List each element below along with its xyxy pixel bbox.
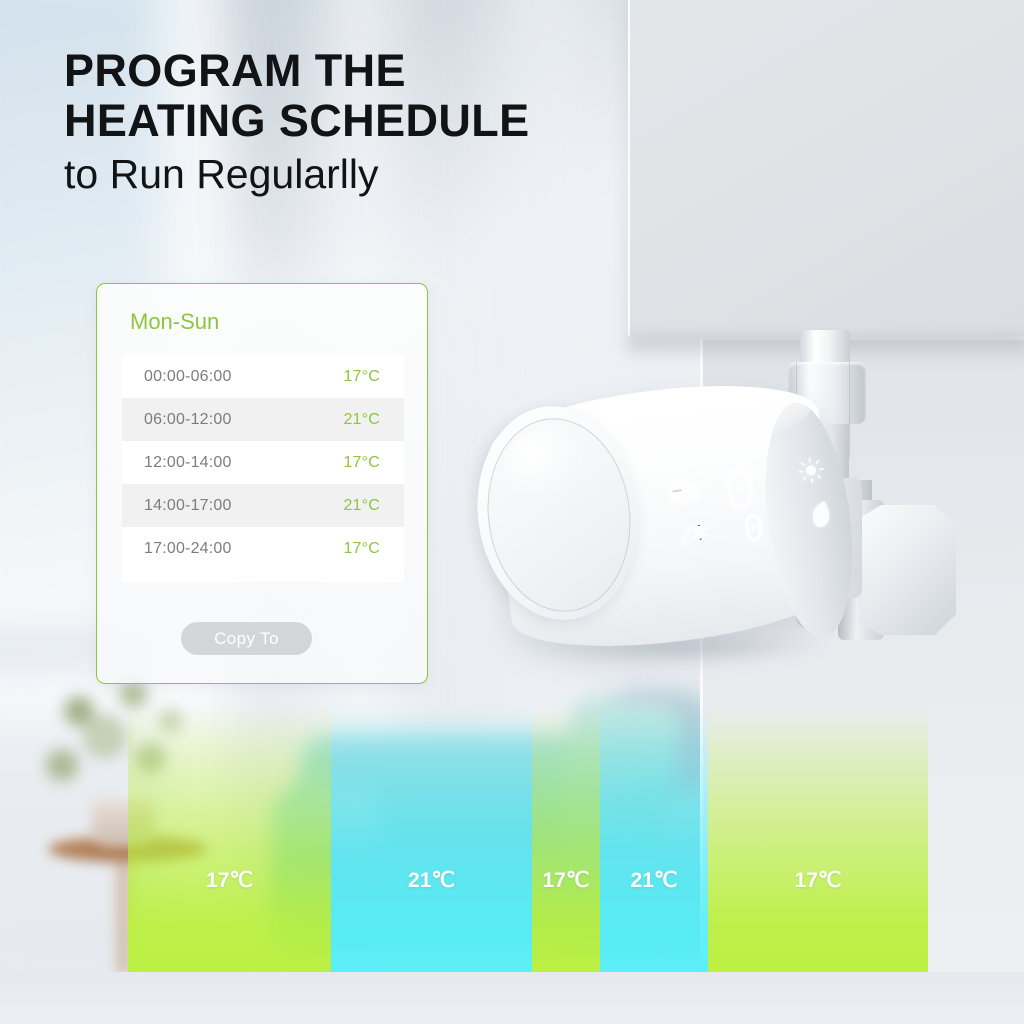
timeline-band-label-0: 17℃: [128, 868, 331, 893]
row-time: 12:00-14:00: [144, 454, 232, 472]
table-row[interactable]: 12:00-14:00 17°C: [122, 441, 404, 484]
timeline-band-3: [600, 705, 708, 972]
timeline-band-label-3: 21℃: [600, 868, 708, 893]
row-time: 00:00-06:00: [144, 368, 232, 386]
row-time: 17:00-24:00: [144, 540, 232, 558]
table-row[interactable]: 17:00-24:00 17°C: [122, 527, 404, 570]
timeline-axis-strip: [0, 972, 1024, 1024]
copy-to-button[interactable]: Copy To: [180, 621, 313, 656]
row-temperature: 17°C: [343, 540, 380, 558]
schedule-card: Mon-Sun 00:00-06:00 17°C 06:00-12:00 21°…: [96, 283, 428, 684]
headline-line-1: PROGRAM THE: [64, 46, 704, 96]
timeline-band-label-1: 21℃: [331, 868, 532, 893]
timeline-band-0: [128, 705, 331, 972]
timeline-band-4: [708, 705, 928, 972]
headline: PROGRAM THE HEATING SCHEDULE to Run Regu…: [64, 46, 704, 202]
headline-line-3: to Run Regularlly: [64, 147, 704, 202]
row-time: 06:00-12:00: [144, 411, 232, 429]
product-marketing-image: 17℃ 21℃ 17℃ 21℃ 17℃ 00:00 06:00 12:00 14…: [0, 0, 1024, 1024]
row-temperature: 17°C: [343, 368, 380, 386]
row-temperature: 21°C: [343, 497, 380, 515]
row-temperature: 21°C: [343, 411, 380, 429]
table-row[interactable]: 14:00-17:00 21°C: [122, 484, 404, 527]
timeline-band-label-2: 17℃: [532, 868, 600, 893]
timeline-band-label-4: 17℃: [708, 868, 928, 893]
headline-line-2: HEATING SCHEDULE: [64, 96, 704, 146]
table-row[interactable]: 06:00-12:00 21°C: [122, 398, 404, 441]
table-row[interactable]: 00:00-06:00 17°C: [122, 355, 404, 398]
schedule-row-list: 00:00-06:00 17°C 06:00-12:00 21°C 12:00-…: [122, 355, 404, 582]
timeline-band-2: [532, 705, 600, 972]
row-temperature: 17°C: [343, 454, 380, 472]
timeline-band-1: [331, 705, 532, 972]
row-time: 14:00-17:00: [144, 497, 232, 515]
schedule-card-title: Mon-Sun: [130, 309, 219, 335]
